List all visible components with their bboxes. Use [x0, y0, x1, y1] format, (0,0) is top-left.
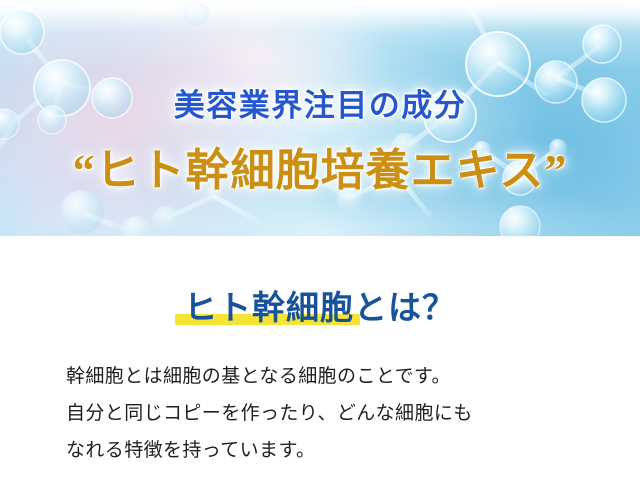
- body-line-3: なれる特徴を持っています。: [66, 432, 586, 469]
- body-copy: 幹細胞とは細胞の基となる細胞のことです。 自分と同じコピーを作ったり、どんな細胞…: [66, 358, 586, 469]
- section-heading-wrap: ヒト幹細胞とは？: [0, 281, 640, 327]
- body-line-1: 幹細胞とは細胞の基となる細胞のことです。: [66, 358, 586, 395]
- promo-page: 美容業界注目の成分 “ヒト幹細胞培養エキス” ヒト幹細胞とは？ 幹細胞とは細胞の…: [0, 0, 640, 502]
- body-line-2: 自分と同じコピーを作ったり、どんな細胞にも: [66, 395, 586, 432]
- hero-title: “ヒト幹細胞培養エキス”: [0, 134, 640, 198]
- section-heading: ヒト幹細胞とは？: [184, 291, 456, 327]
- hero-subtitle: 美容業界注目の成分: [0, 80, 640, 125]
